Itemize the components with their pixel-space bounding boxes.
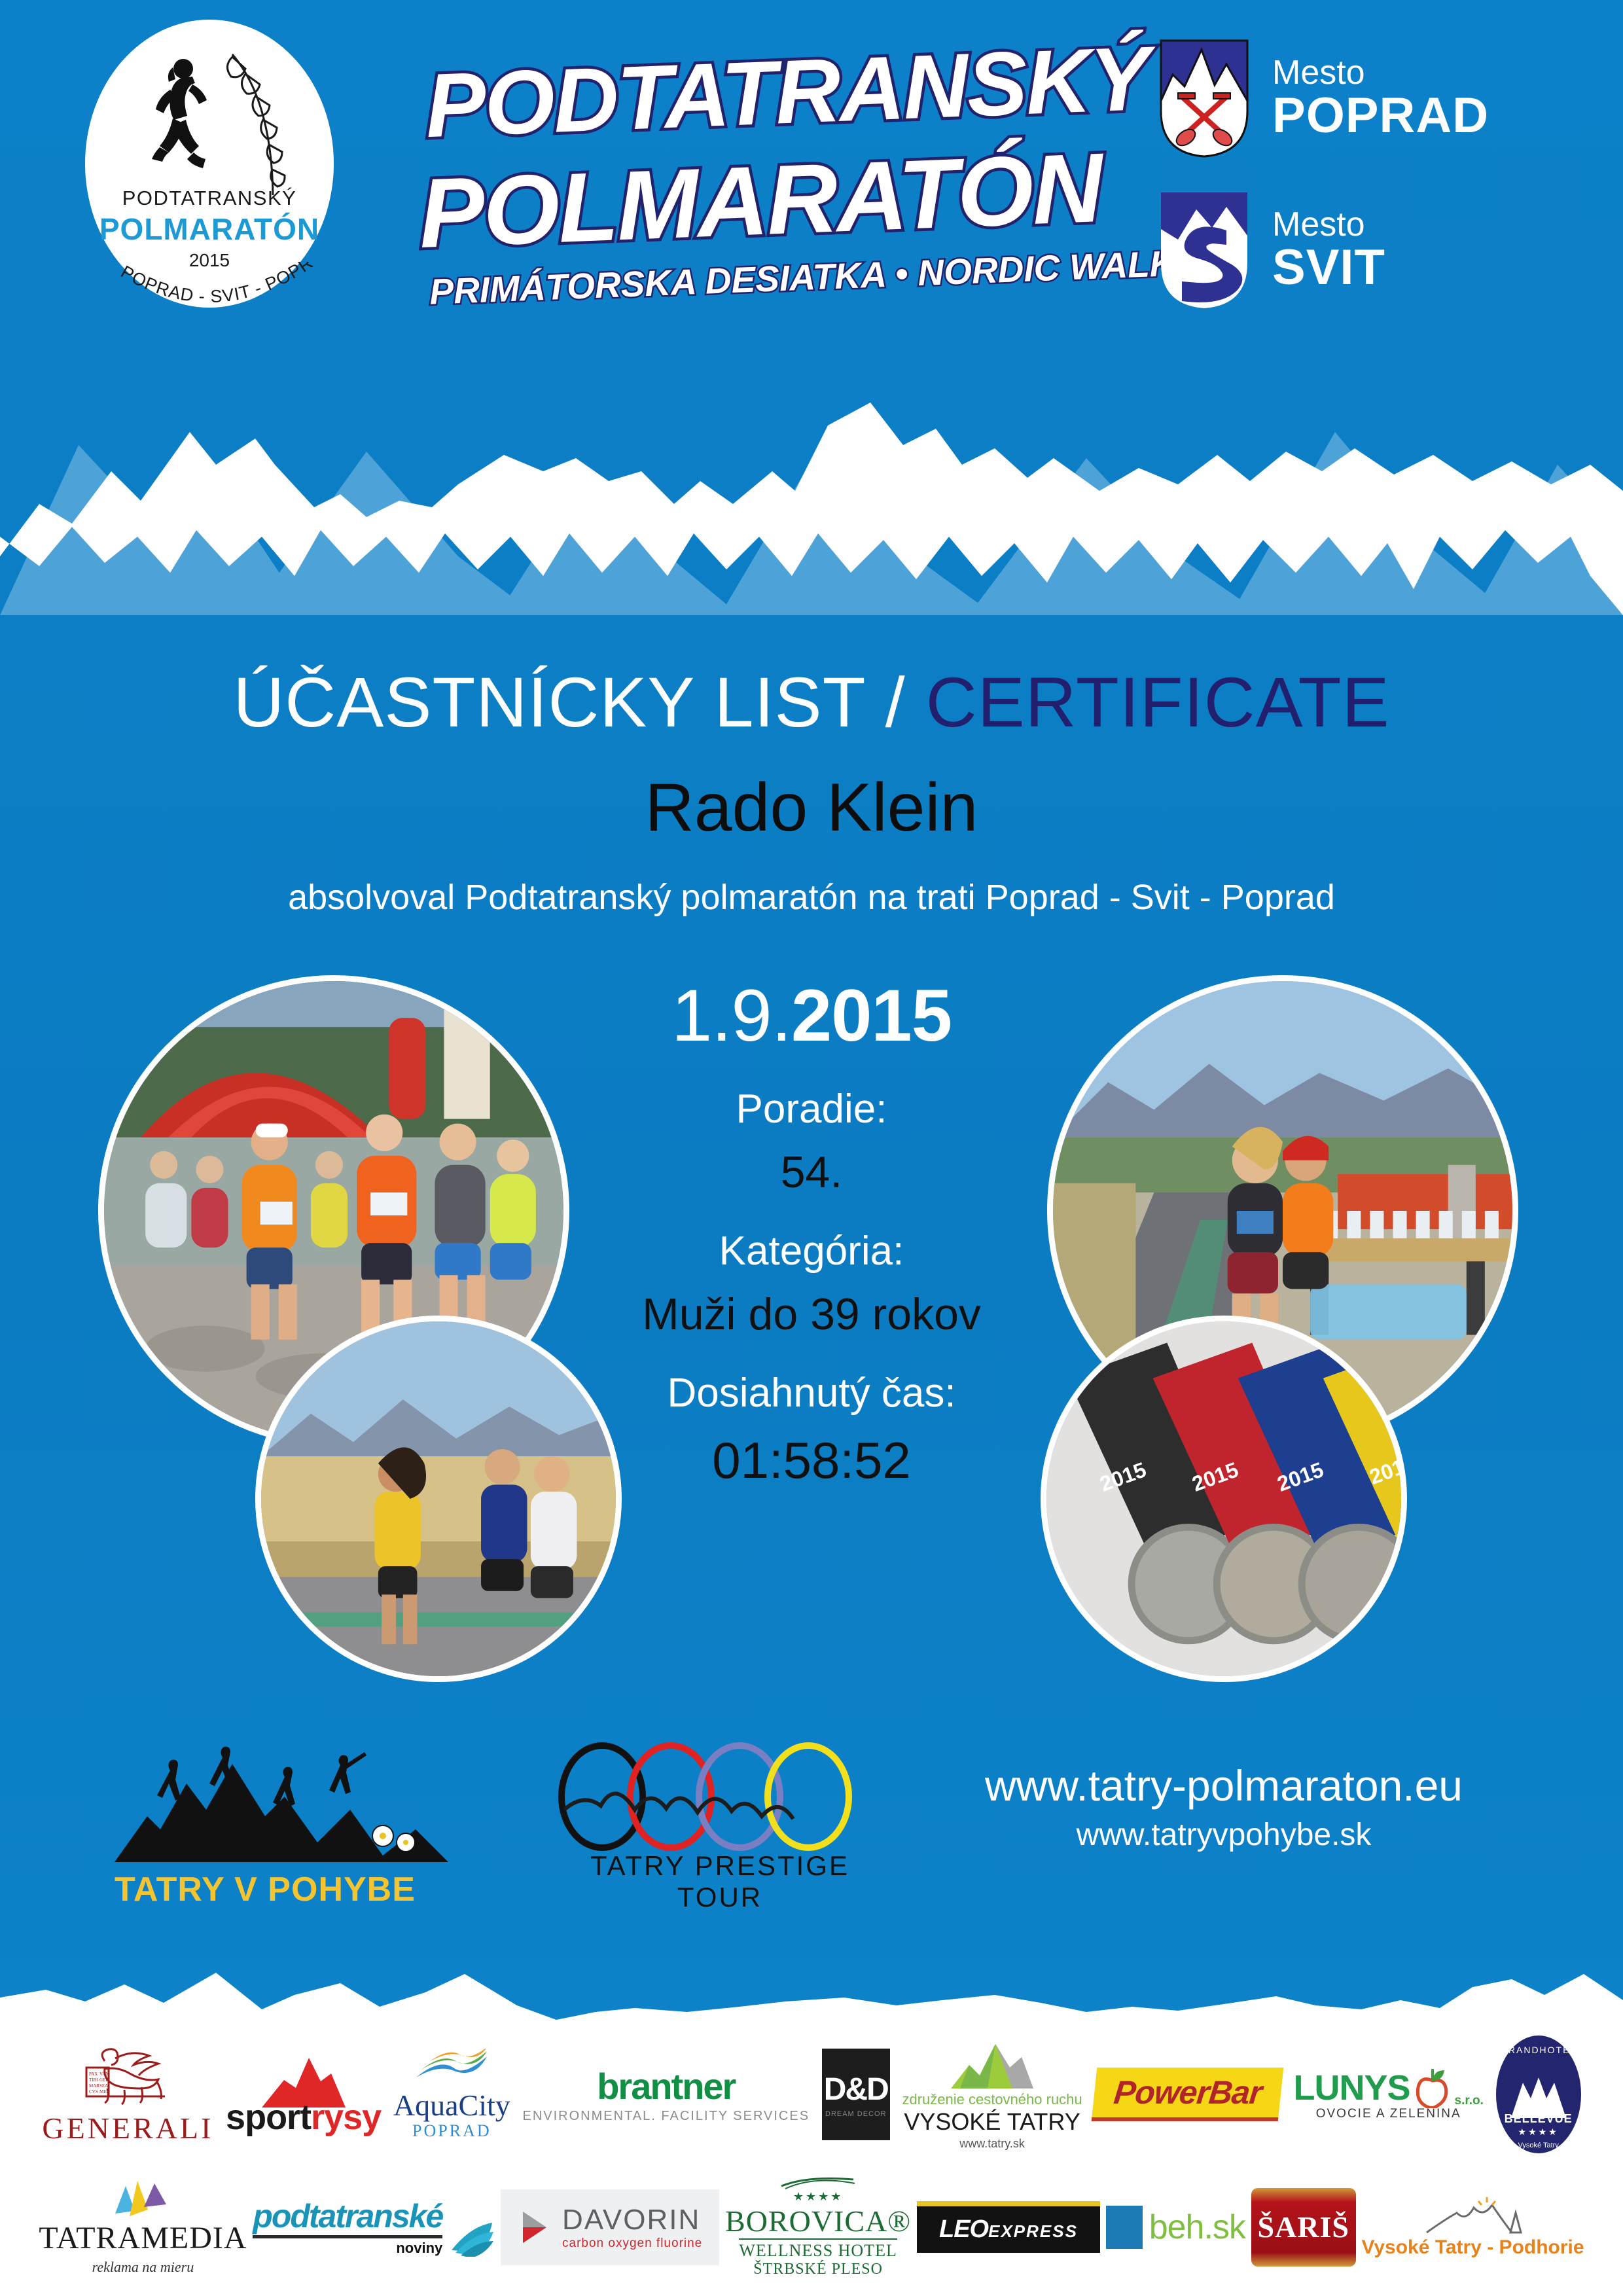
certificate-heading-en: CERTIFICATE <box>926 662 1390 742</box>
sponsor-row-1: PAXVAN TIBIGEL MARSEA CVSMES GENERALI sp… <box>0 2029 1623 2160</box>
leoexpress-box: LEOEXPRESS <box>917 2201 1100 2253</box>
event-date-year: 2015 <box>791 975 952 1056</box>
certificate-heading-sk: ÚČASTNÍCKY LIST <box>233 662 865 742</box>
podhorie-mountain-icon <box>1424 2196 1522 2236</box>
event-date-day: 1.9. <box>671 975 791 1056</box>
sponsor-behsk: beh.sk <box>1106 2206 1245 2249</box>
results-column: 1.9.2015 Poradie: 54. Kategória: Muži do… <box>582 975 1041 1490</box>
website-primary[interactable]: www.tatry-polmaraton.eu <box>910 1761 1538 1810</box>
grandhotel-bellevue-oval: GRANDHOTEL BELLEVUE ★★★★ Vysoké Tatry <box>1496 2036 1581 2153</box>
aquacity-sub: POPRAD <box>412 2121 491 2141</box>
svit-crest-icon <box>1158 190 1250 311</box>
certificate-statement: absolvoval Podtatranský polmaratón na tr… <box>0 877 1623 918</box>
davorin-box: DAVORIN carbon oxygen fluorine <box>501 2189 719 2265</box>
dd-label: D&D <box>824 2072 888 2108</box>
runner-icon <box>144 56 229 187</box>
grandhotel-bottom: Vysoké Tatry <box>1518 2142 1558 2149</box>
generali-label: GENERALI <box>42 2111 213 2145</box>
sportrysy-label: sportrysy <box>226 2097 381 2138</box>
tatry-v-pohybe-label: TATRY V POHYBE <box>115 1870 416 1909</box>
event-logo: PODTATRANSKÝ POLMARATÓN 2015 POPRAD - SV… <box>85 20 334 308</box>
poprad-prefix: Mesto <box>1272 56 1489 90</box>
sponsor-brantner: brantner ENVIRONMENTAL. FACILITY SERVICE… <box>523 2065 810 2124</box>
brantner-sub: ENVIRONMENTAL. FACILITY SERVICES <box>523 2109 810 2124</box>
grandhotel-top: GRANDHOTEL <box>1500 2045 1577 2055</box>
borovica-sub2: ŠTRBSKÉ PLESO <box>753 2261 883 2278</box>
sponsor-sportrysy: sportrysy <box>226 2051 381 2138</box>
mountain-band-decoration <box>0 340 1623 615</box>
podtatranske-noviny-sub: noviny <box>396 2240 442 2257</box>
rank-value: 54. <box>582 1147 1041 1198</box>
sponsor-grandhotel-bellevue: GRANDHOTEL BELLEVUE ★★★★ Vysoké Tatry <box>1496 2036 1581 2153</box>
photo-field-runners <box>255 1316 622 1682</box>
tatry-prestige-tour-logo: TATRY PRESTIGE TOUR <box>550 1738 890 1914</box>
logo-line1: PODTATRANSKÝ <box>85 187 334 210</box>
category-label: Kategória: <box>582 1228 1041 1274</box>
sponsor-leoexpress: LEOEXPRESS <box>917 2201 1100 2253</box>
sportrysy-label-black: sport <box>226 2098 311 2137</box>
borovica-branch-icon <box>779 2176 857 2190</box>
svit-prefix: Mesto <box>1272 207 1385 242</box>
brantner-label: brantner <box>597 2065 735 2108</box>
event-title-block: PODTATRANSKÝ POLMARATÓN PRIMÁTORSKA DESI… <box>419 26 1093 327</box>
logo-line2: POLMARATÓN <box>85 211 334 247</box>
tatramedia-label: TATRAMEDIA <box>39 2220 247 2256</box>
tatry-v-pohybe-logo: TATRY V POHYBE <box>108 1738 461 1914</box>
vysoke-tatry-url: www.tatry.sk <box>959 2137 1025 2151</box>
time-value: 01:58:52 <box>582 1431 1041 1490</box>
time-label: Dosiahnutý čas: <box>582 1370 1041 1416</box>
tatry-prestige-tour-label: TATRY PRESTIGE TOUR <box>550 1850 890 1913</box>
sponsor-generali: PAXVAN TIBIGEL MARSEA CVSMES GENERALI <box>42 2044 213 2145</box>
poprad-crest-icon <box>1158 38 1250 159</box>
dd-box: D&D DREAM DECOR <box>822 2049 890 2140</box>
rank-label: Poradie: <box>582 1086 1041 1132</box>
svg-text:TIBI: TIBI <box>89 2077 98 2083</box>
event-date: 1.9.2015 <box>582 975 1041 1056</box>
behsk-square-icon <box>1106 2206 1143 2249</box>
leoexpress-label-main: LEO <box>939 2215 988 2243</box>
logo-route-arc: POPRAD - SVIT - POPRAD <box>85 262 334 321</box>
sponsor-vysoke-tatry: združenie cestovného ruchu VYSOKÉ TATRY … <box>902 2039 1082 2151</box>
city-svit: Mesto SVIT <box>1158 190 1385 311</box>
city-poprad: Mesto POPRAD <box>1158 38 1489 159</box>
svg-text:MAR: MAR <box>89 2083 99 2089</box>
svg-text:CVS: CVS <box>89 2089 98 2094</box>
sponsor-dd: D&D DREAM DECOR <box>822 2049 890 2140</box>
header: PODTATRANSKÝ POLMARATÓN 2015 POPRAD - SV… <box>0 0 1623 367</box>
borovica-sub1: WELLNESS HOTEL <box>739 2238 897 2261</box>
certificate-page: PODTATRANSKÝ POLMARATÓN 2015 POPRAD - SV… <box>0 0 1623 2296</box>
leoexpress-label: LEOEXPRESS <box>939 2215 1078 2244</box>
sponsor-vysoke-tatry-podhorie: Vysoké Tatry - Podhorie <box>1361 2196 1584 2259</box>
svg-text:VAN: VAN <box>99 2072 109 2077</box>
sponsor-lunys: LUNYS s.r.o. OVOCIE A ZELENINA <box>1294 2068 1484 2121</box>
generali-lion-icon: PAXVAN TIBIGEL MARSEA CVSMES <box>79 2044 177 2109</box>
vysoke-tatry-label: VYSOKÉ TATRY <box>904 2108 1080 2136</box>
grandhotel-stars: ★★★★ <box>1518 2126 1559 2138</box>
aquacity-label: AquaCity <box>393 2088 510 2123</box>
lunys-apple-icon <box>1414 2068 1451 2108</box>
borovica-stars: ★★★★ <box>793 2190 844 2204</box>
sponsor-row-2: TATRAMEDIA reklama na mieru podtatranské… <box>0 2163 1623 2291</box>
sponsor-davorin: DAVORIN carbon oxygen fluorine <box>501 2189 719 2265</box>
powerbar-box: PowerBar <box>1092 2068 1284 2121</box>
svg-text:SEA: SEA <box>99 2083 108 2089</box>
behsk-label: beh.sk <box>1149 2208 1245 2247</box>
powerbar-label: PowerBar <box>1113 2073 1264 2111</box>
svg-text:PAX: PAX <box>89 2072 98 2077</box>
svg-text:POPRAD - SVIT - POPRAD: POPRAD - SVIT - POPRAD <box>85 262 317 306</box>
websites: www.tatry-polmaraton.eu www.tatryvpohybe… <box>910 1761 1538 1853</box>
sponsor-saris: ŠARIŠ <box>1251 2188 1356 2267</box>
vysoke-tatry-sub-top: združenie cestovného ruchu <box>902 2091 1082 2108</box>
sportrysy-label-red: rysy <box>311 2098 381 2137</box>
davorin-arrow-icon <box>518 2209 553 2246</box>
sponsor-tatramedia: TATRAMEDIA reklama na mieru <box>39 2178 247 2276</box>
sponsor-aquacity: AquaCity POPRAD <box>393 2049 510 2141</box>
davorin-sub: carbon oxygen fluorine <box>562 2236 702 2251</box>
saris-label: ŠARIŠ <box>1257 2210 1349 2244</box>
category-value: Muži do 39 rokov <box>582 1289 1041 1340</box>
saris-box: ŠARIŠ <box>1251 2188 1356 2267</box>
dd-sub: DREAM DECOR <box>825 2110 887 2118</box>
lunys-sub: OVOCIE A ZELENINA <box>1316 2107 1461 2121</box>
vysoke-tatry-podhorie-label: Vysoké Tatry - Podhorie <box>1361 2236 1584 2259</box>
photo-medals: 2015 2015 2015 2015 <box>1041 1316 1407 1682</box>
podtatranske-noviny-pages-icon <box>449 2220 495 2257</box>
vysoke-tatry-mountain-icon <box>950 2039 1035 2090</box>
sponsor-band: PAXVAN TIBIGEL MARSEA CVSMES GENERALI sp… <box>0 2022 1623 2296</box>
sponsor-borovica: ★★★★ BOROVICA® WELLNESS HOTEL ŠTRBSKÉ PL… <box>725 2176 911 2278</box>
laurel-wreath-icon <box>219 49 298 200</box>
svit-name: SVIT <box>1272 242 1385 294</box>
website-secondary[interactable]: www.tatryvpohybe.sk <box>910 1817 1538 1853</box>
grandhotel-bellevue-label: BELLEVUE <box>1505 2112 1573 2126</box>
sponsor-powerbar: PowerBar <box>1094 2068 1281 2121</box>
lunys-label: LUNYS <box>1294 2068 1410 2108</box>
svg-text:GEL: GEL <box>99 2077 109 2083</box>
borovica-label: BOROVICA® <box>725 2204 911 2238</box>
tatramedia-triangles-icon <box>103 2178 182 2220</box>
leoexpress-label-suffix: EXPRESS <box>988 2221 1078 2241</box>
tatramedia-sub: reklama na mieru <box>92 2259 194 2276</box>
poprad-name: POPRAD <box>1272 90 1489 142</box>
tatry-v-pohybe-icon <box>108 1738 461 1869</box>
davorin-label: DAVORIN <box>562 2204 702 2236</box>
certificate-heading-separator: / <box>865 662 926 742</box>
sponsor-podtatranske-noviny: podtatranské noviny <box>253 2197 495 2257</box>
certificate-heading: ÚČASTNÍCKY LIST / CERTIFICATE <box>0 661 1623 743</box>
athlete-name: Rado Klein <box>0 769 1623 847</box>
podtatranske-noviny-label: podtatranské <box>253 2197 442 2238</box>
aquacity-wave-icon <box>412 2049 491 2088</box>
svg-text:MES: MES <box>99 2089 109 2094</box>
